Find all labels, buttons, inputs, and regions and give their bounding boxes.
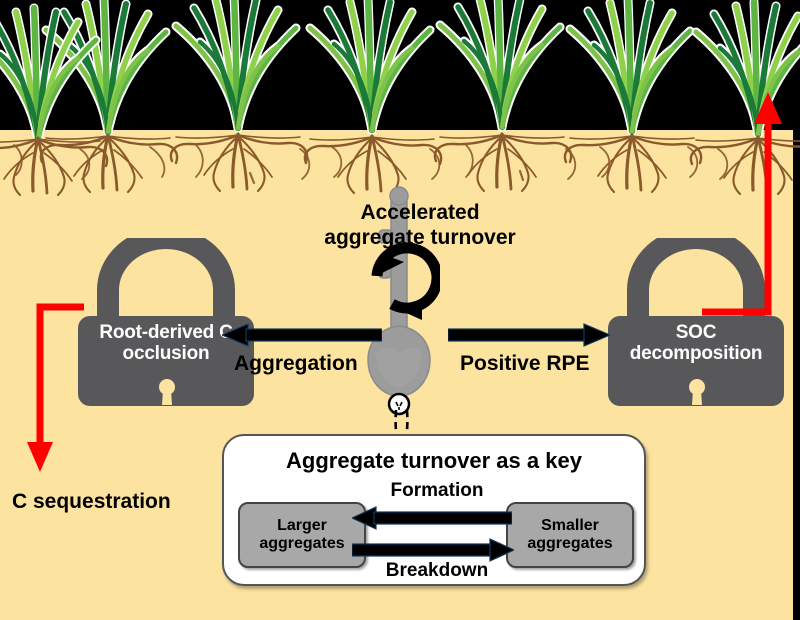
- heading-line1: Accelerated: [360, 201, 479, 224]
- larger-aggregates-line2: aggregates: [259, 535, 344, 552]
- soc-loss-red-arrow: [682, 90, 792, 320]
- accelerated-turnover-heading: Accelerated aggregate turnover: [300, 200, 540, 250]
- formation-label: Formation: [352, 480, 522, 502]
- keyhole-right-icon: [686, 378, 708, 408]
- heading-line2: aggregate turnover: [324, 226, 515, 249]
- c-sequestration-red-arrow: [22, 300, 92, 480]
- breakdown-label: Breakdown: [352, 560, 522, 582]
- formation-arrow: [352, 506, 512, 530]
- larger-aggregates-box[interactable]: Larger aggregates: [238, 502, 366, 568]
- lock-right-label-line1: SOC: [676, 322, 717, 343]
- larger-aggregates-line1: Larger: [277, 517, 327, 534]
- smaller-aggregates-line2: aggregates: [527, 535, 612, 552]
- lock-right-label-line2: decomposition: [630, 343, 763, 364]
- panel-title: Aggregate turnover as a key: [224, 448, 644, 474]
- smaller-aggregates-line1: Smaller: [541, 517, 599, 534]
- positive-rpe-arrow-right: [448, 322, 610, 348]
- keyhole-left-icon: [156, 378, 178, 408]
- smaller-aggregates-box[interactable]: Smaller aggregates: [506, 502, 634, 568]
- aggregate-turnover-panel: Aggregate turnover as a key Larger aggre…: [222, 434, 646, 586]
- breakdown-arrow: [352, 538, 514, 562]
- aggregation-label: Aggregation: [234, 352, 358, 376]
- lock-left-label-line2: occlusion: [123, 343, 210, 364]
- positive-rpe-label: Positive RPE: [460, 352, 590, 376]
- lock-left-label-line1: Root-derived C: [99, 322, 232, 343]
- c-sequestration-label: C sequestration: [12, 490, 171, 514]
- figure-canvas: Root-derived C occlusion SOC decompositi…: [0, 0, 800, 620]
- aggregation-arrow-left: [222, 322, 382, 348]
